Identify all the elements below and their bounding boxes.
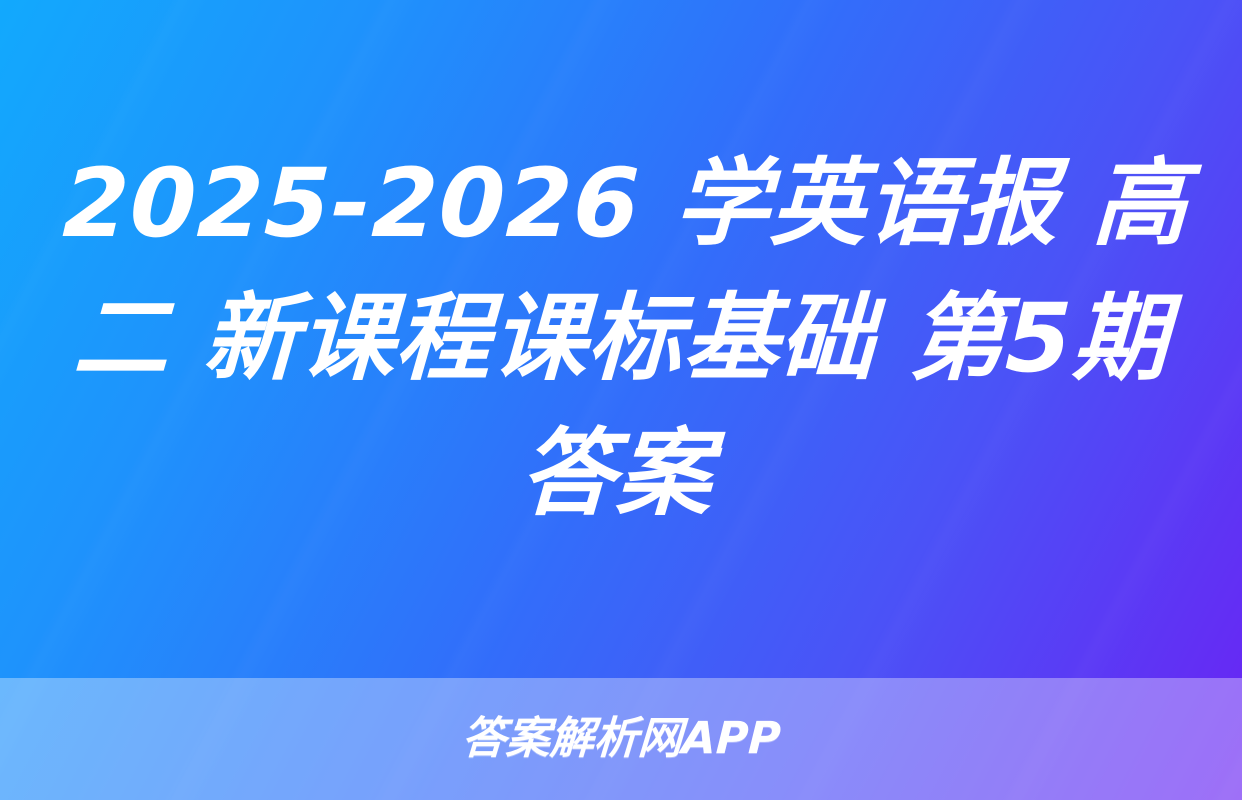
poster-title-block: 2025-2026 学英语报 高二 新课程课标基础 第5期答案: [0, 0, 1242, 678]
poster-banner: 2025-2026 学英语报 高二 新课程课标基础 第5期答案 答案解析网APP: [0, 0, 1242, 800]
brand-label: 答案解析网APP: [461, 717, 782, 761]
footer-brand-band: 答案解析网APP: [0, 678, 1242, 800]
page-title: 2025-2026 学英语报 高二 新课程课标基础 第5期答案: [39, 137, 1203, 542]
